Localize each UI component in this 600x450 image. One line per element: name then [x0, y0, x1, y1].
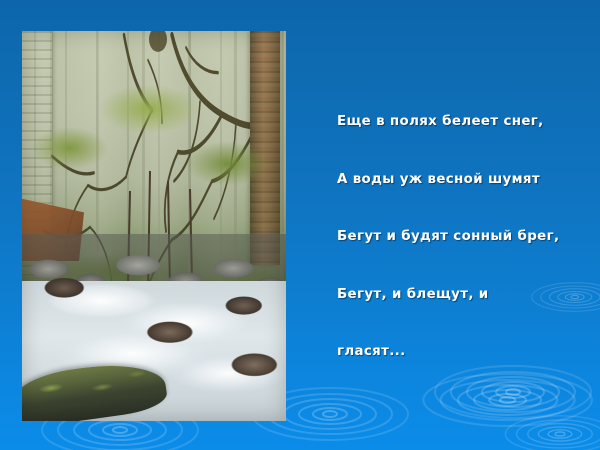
- poem-line: гласят...: [337, 342, 589, 361]
- photo-vignette: [22, 31, 286, 421]
- poem-stanza-1: Еще в полях белеет снег, А воды уж весно…: [337, 74, 589, 400]
- poem-line: Бегут и будят сонный брег,: [337, 227, 589, 246]
- slide: Еще в полях белеет снег, А воды уж весно…: [0, 0, 600, 450]
- poem-line: Бегут, и блещут, и: [337, 285, 589, 304]
- forest-stream-photo: [22, 31, 286, 421]
- poem-line: А воды уж весной шумят: [337, 170, 589, 189]
- poem-line: Еще в полях белеет снег,: [337, 112, 589, 131]
- poem-text: Еще в полях белеет снег, А воды уж весно…: [337, 16, 589, 450]
